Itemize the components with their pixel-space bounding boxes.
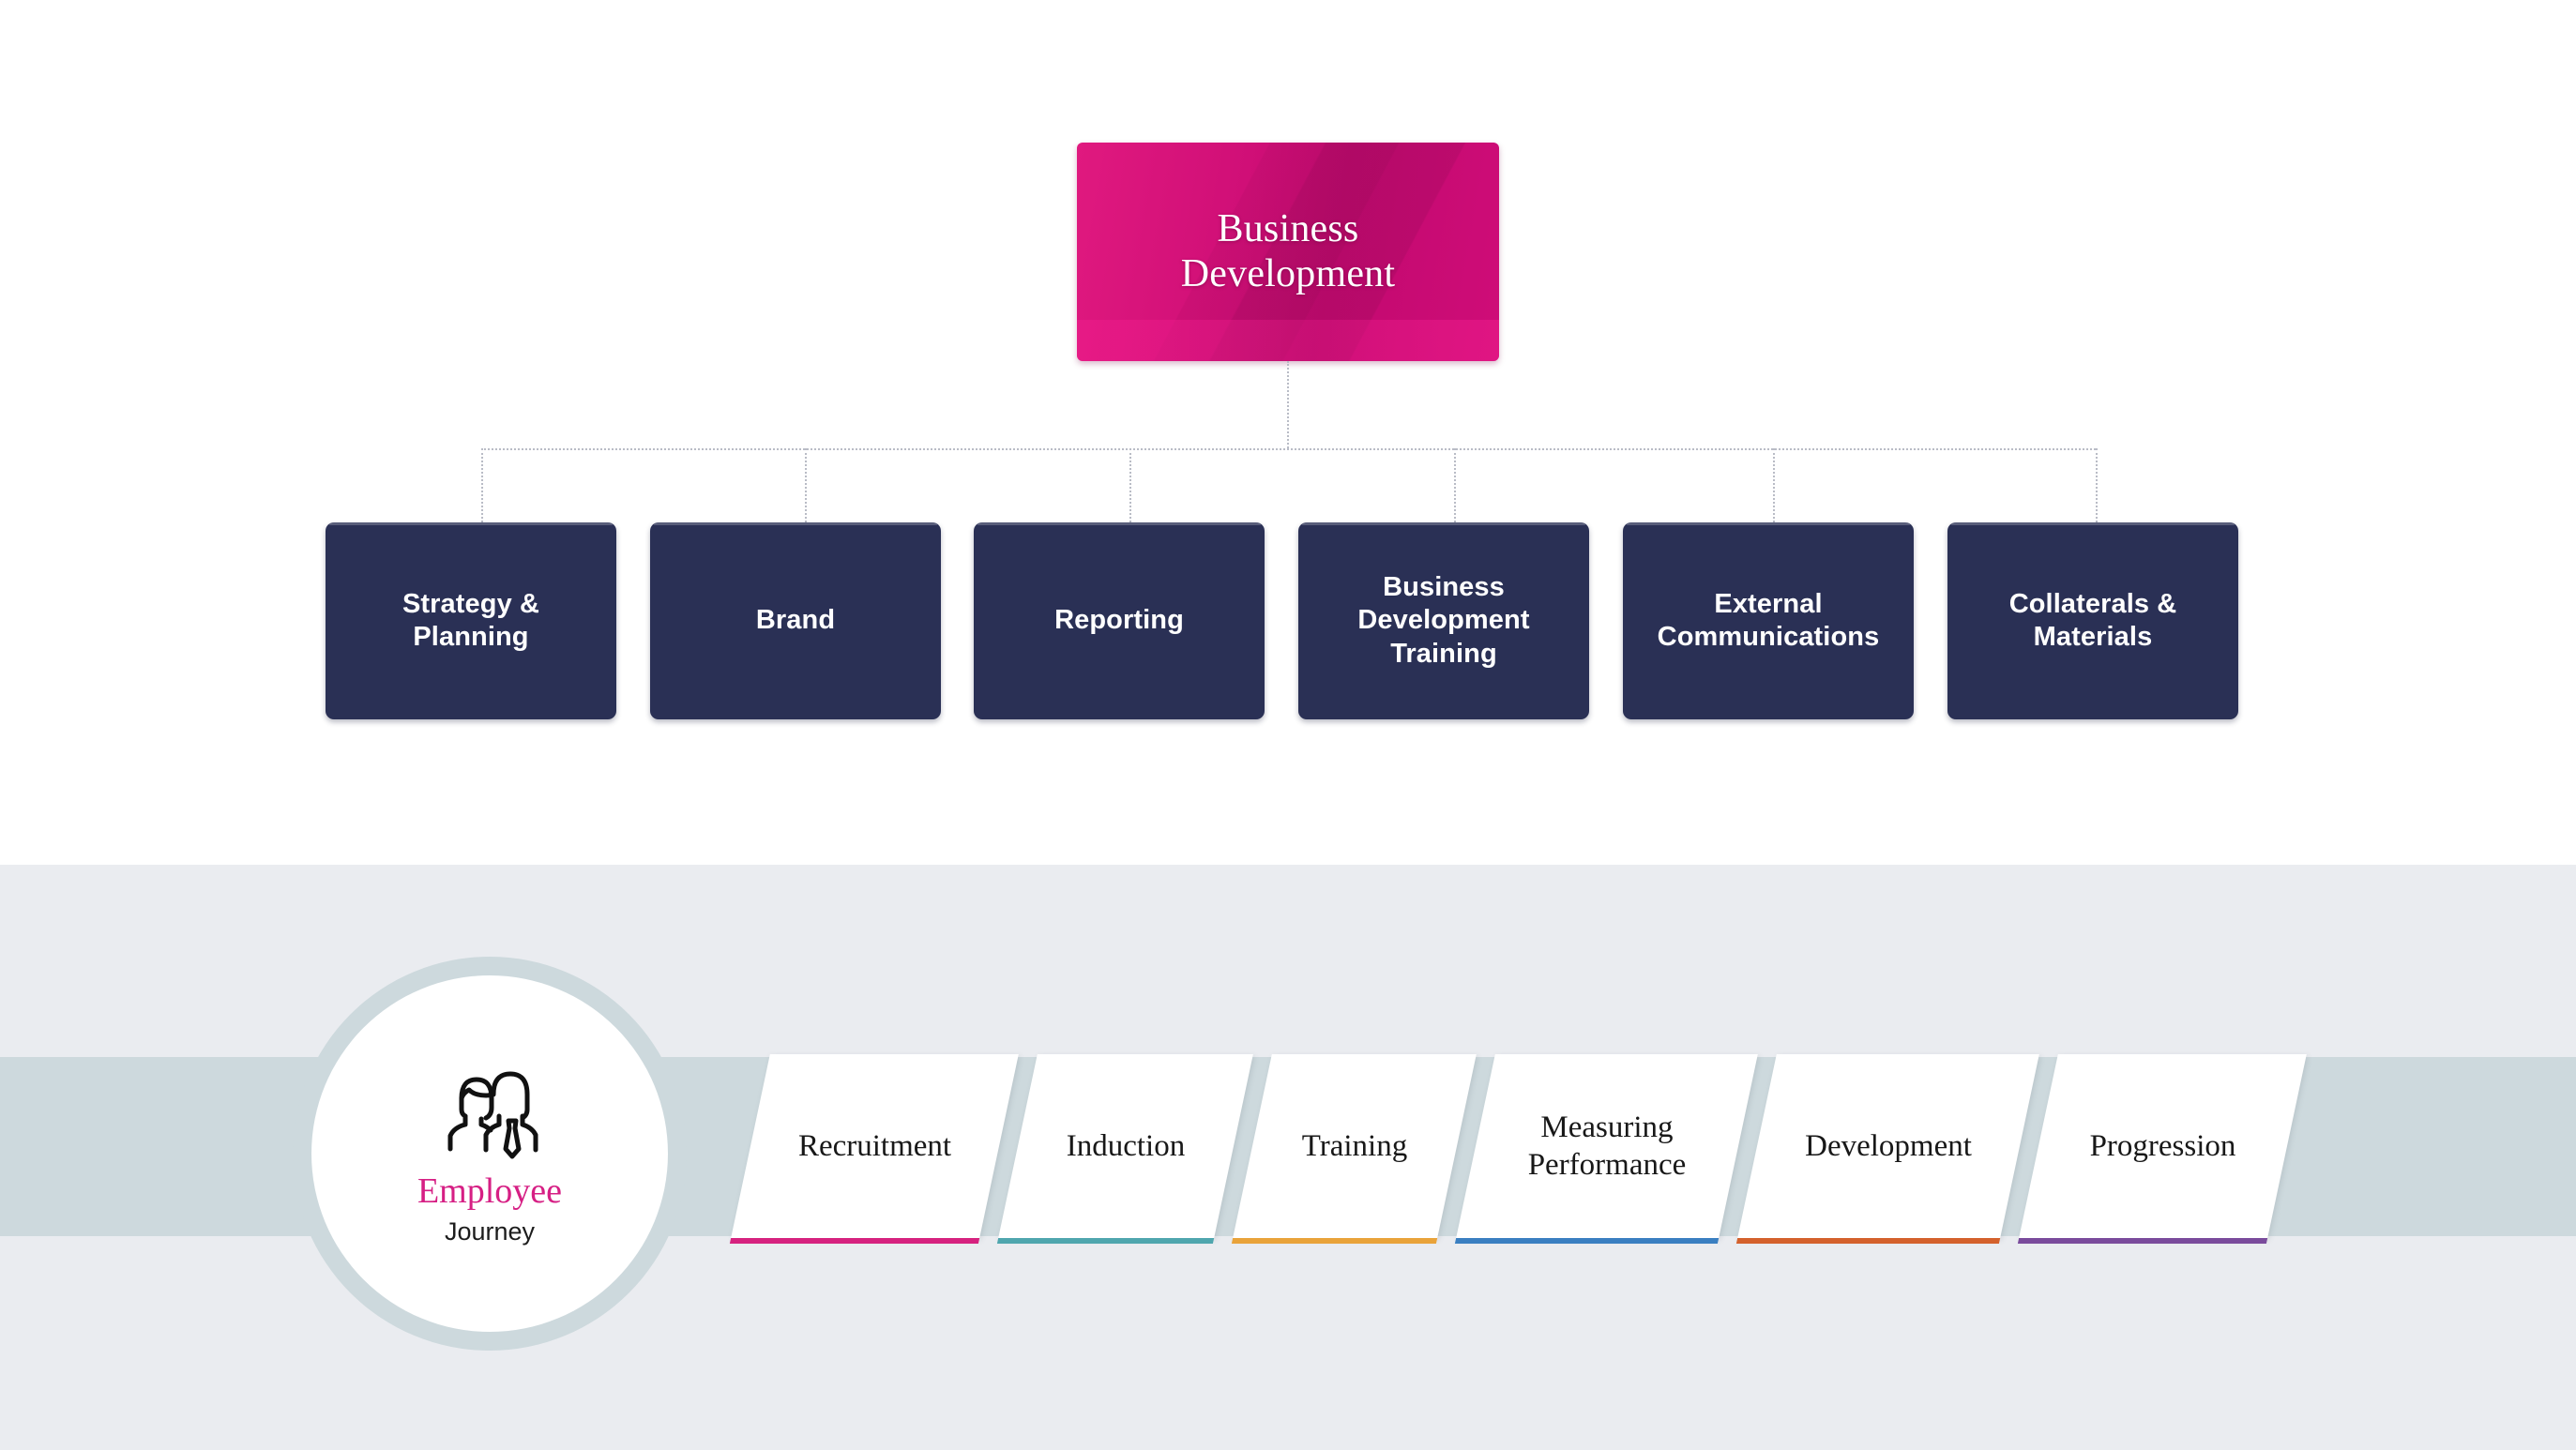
journey-step-label: Recruitment: [750, 1054, 999, 1238]
journey-step-label: Training: [1252, 1054, 1457, 1238]
journey-step-accent-bar: [1455, 1238, 1719, 1244]
org-root-node-business-development[interactable]: Business Development: [1077, 143, 1499, 361]
org-node-label: Reporting: [1054, 604, 1184, 637]
org-node-label-line2: Planning: [402, 621, 539, 654]
journey-step-accent-bar: [730, 1238, 979, 1244]
connector-drop-6: [2096, 448, 2098, 522]
employee-journey-subtitle: Journey: [445, 1219, 535, 1245]
journey-step-label: Induction: [1018, 1054, 1234, 1238]
journey-step-label-text: Progression: [2090, 1127, 2236, 1165]
employee-journey-title: Employee: [417, 1173, 562, 1209]
journey-step-accent-bar: [2018, 1238, 2267, 1244]
org-node-label: Collaterals & Materials: [2009, 588, 2177, 655]
journey-step-development[interactable]: Development: [1737, 1054, 2039, 1238]
org-node-collaterals-and-materials[interactable]: Collaterals & Materials: [1947, 522, 2238, 719]
org-node-reporting[interactable]: Reporting: [974, 522, 1265, 719]
org-node-business-development-training[interactable]: Business Development Training: [1298, 522, 1589, 719]
two-people-icon: [433, 1063, 546, 1166]
connector-drop-5: [1773, 448, 1775, 522]
journey-step-label-text: Measuring Performance: [1528, 1109, 1687, 1185]
org-node-brand[interactable]: Brand: [650, 522, 941, 719]
journey-step-induction[interactable]: Induction: [998, 1054, 1253, 1238]
employee-journey-section: Employee Journey Recruitment Induction T…: [0, 865, 2576, 1450]
journey-step-accent-bar: [1736, 1238, 2000, 1244]
org-root-label-line1: Business: [1218, 207, 1359, 252]
org-node-label-line1: Collaterals &: [2009, 588, 2177, 621]
org-node-label: Brand: [756, 604, 835, 637]
connector-drop-2: [805, 448, 807, 522]
connector-drop-1: [481, 448, 483, 522]
org-node-label-line2: Communications: [1658, 621, 1880, 654]
org-node-label-line1: External: [1658, 588, 1880, 621]
journey-step-progression[interactable]: Progression: [2019, 1054, 2307, 1238]
journey-step-accent-bar: [1232, 1238, 1437, 1244]
journey-step-label: Development: [1757, 1054, 2020, 1238]
org-root-label-line2: Development: [1181, 252, 1395, 297]
org-node-label-line1: Reporting: [1054, 604, 1184, 637]
journey-step-recruitment[interactable]: Recruitment: [731, 1054, 1019, 1238]
journey-step-label-text: Development: [1805, 1127, 1972, 1165]
journey-step-label-text: Induction: [1067, 1127, 1185, 1165]
org-chart-section: Business Development Strategy & Planning…: [0, 0, 2576, 865]
connector-horizontal-rail: [481, 448, 2096, 450]
org-root-label: Business Development: [1077, 143, 1499, 361]
org-node-label-line3: Training: [1357, 638, 1529, 671]
journey-step-label: Progression: [2038, 1054, 2287, 1238]
journey-step-training[interactable]: Training: [1233, 1054, 1477, 1238]
org-node-strategy-and-planning[interactable]: Strategy & Planning: [326, 522, 616, 719]
journey-step-accent-bar: [997, 1238, 1214, 1244]
org-node-label-line1: Brand: [756, 604, 835, 637]
org-node-label-line1: Business: [1357, 571, 1529, 604]
diagram-canvas: Business Development Strategy & Planning…: [0, 0, 2576, 1450]
employee-journey-badge[interactable]: Employee Journey: [311, 975, 668, 1332]
connector-drop-4: [1454, 448, 1456, 522]
org-node-label: Strategy & Planning: [402, 588, 539, 655]
journey-step-label: Measuring Performance: [1476, 1054, 1738, 1238]
org-node-label-line2: Development: [1357, 604, 1529, 637]
journey-step-label-text: Recruitment: [798, 1127, 951, 1165]
org-node-label-line1: Strategy &: [402, 588, 539, 621]
journey-step-label-text: Training: [1302, 1127, 1407, 1165]
org-node-label-line2: Materials: [2009, 621, 2177, 654]
journey-step-label-line1: Measuring: [1528, 1109, 1687, 1146]
org-node-label: External Communications: [1658, 588, 1880, 655]
org-node-external-communications[interactable]: External Communications: [1623, 522, 1914, 719]
journey-step-label-line2: Performance: [1528, 1146, 1687, 1184]
connector-drop-3: [1129, 448, 1131, 522]
journey-step-measuring-performance[interactable]: Measuring Performance: [1456, 1054, 1758, 1238]
org-node-label: Business Development Training: [1357, 571, 1529, 671]
connector-root-stem: [1287, 361, 1289, 448]
